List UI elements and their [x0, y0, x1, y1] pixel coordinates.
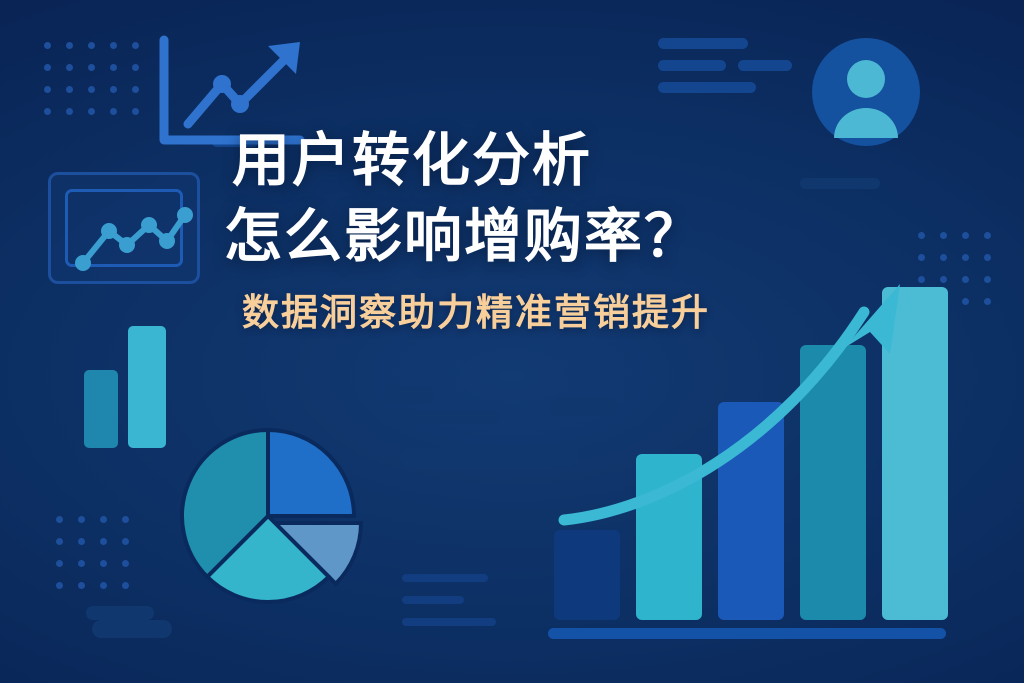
growth-bar-3	[718, 402, 784, 620]
poster-canvas: 用户转化分析 怎么影响增购率？ 数据洞察助力精准营销提升	[0, 0, 1024, 683]
title-line-2: 怎么影响增购率？	[224, 199, 852, 275]
headline-block: 用户转化分析 怎么影响增购率？ 数据洞察助力精准营销提升	[232, 123, 852, 337]
placeholder-bar-bl-2	[92, 620, 172, 638]
placeholder-bar-mid-1	[382, 386, 434, 404]
subtitle: 数据洞察助力精准营销提升	[242, 289, 852, 337]
placeholder-bar-tr-1	[658, 38, 748, 49]
mini-bar-1	[84, 370, 118, 448]
placeholder-bar-tr-3	[738, 60, 792, 71]
placeholder-bar-bl-1	[86, 606, 154, 620]
dot-grid-top-left	[44, 42, 154, 130]
dashboard-sparkline-card	[48, 172, 200, 284]
mini-bar-2	[128, 326, 166, 448]
placeholder-bar-bm-3	[402, 618, 496, 626]
growth-bar-4	[800, 345, 866, 620]
placeholder-bar-tr-4	[658, 82, 756, 93]
growth-bar-1	[554, 530, 620, 620]
segment-pie-chart	[178, 424, 368, 606]
placeholder-bar-mid-3	[380, 410, 500, 424]
bar-chart-baseline	[548, 628, 946, 639]
placeholder-bar-tr-2	[658, 60, 726, 71]
growth-bar-5	[882, 287, 948, 620]
placeholder-bar-bm-1	[402, 574, 488, 582]
dot-grid-bottom-left	[56, 516, 144, 604]
placeholder-bar-bm-2	[402, 596, 464, 604]
growth-bar-2	[636, 454, 702, 620]
title-line-1: 用户转化分析	[232, 123, 852, 199]
mini-bar-chart	[84, 326, 174, 448]
sparkline-card-chart	[51, 175, 203, 287]
placeholder-bar-mid-2	[400, 448, 560, 468]
